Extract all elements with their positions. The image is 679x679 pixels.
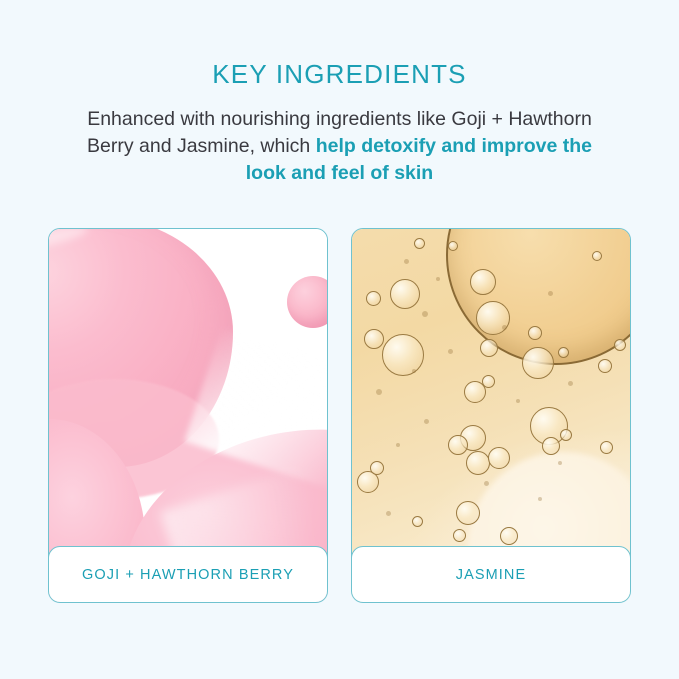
header: KEY INGREDIENTS Enhanced with nourishing… bbox=[0, 58, 679, 187]
oil-speck bbox=[396, 443, 400, 447]
oil-bubble bbox=[482, 375, 495, 388]
subtitle: Enhanced with nourishing ingredients lik… bbox=[0, 106, 679, 187]
oil-speck bbox=[386, 511, 391, 516]
oil-bubble bbox=[390, 279, 420, 309]
page-title: KEY INGREDIENTS bbox=[0, 58, 679, 90]
oil-bubble bbox=[480, 339, 498, 357]
oil-bubble bbox=[488, 447, 510, 469]
oil-bubble bbox=[614, 339, 626, 351]
oil-speck bbox=[448, 349, 453, 354]
oil-speck bbox=[412, 369, 416, 373]
oil-bubble bbox=[560, 429, 572, 441]
oil-speck bbox=[404, 259, 409, 264]
oil-bubble bbox=[542, 437, 560, 455]
oil-bubble bbox=[522, 347, 554, 379]
oil-bubble bbox=[382, 334, 424, 376]
oil-bubble bbox=[412, 516, 423, 527]
oil-bubble bbox=[456, 501, 480, 525]
ingredient-card-jasmine: JASMINE bbox=[351, 228, 631, 603]
oil-speck bbox=[502, 325, 507, 330]
card-caption-label: JASMINE bbox=[456, 567, 527, 583]
oil-bubble bbox=[370, 461, 384, 475]
oil-speck bbox=[548, 291, 553, 296]
oil-speck bbox=[422, 311, 428, 317]
ingredient-card-list: GOJI + HAWTHORN BERRY bbox=[48, 228, 631, 603]
oil-bubble bbox=[600, 441, 613, 454]
oil-bubble bbox=[592, 251, 602, 261]
oil-bubble bbox=[448, 435, 468, 455]
oil-bubble bbox=[364, 329, 384, 349]
oil-speck bbox=[516, 399, 520, 403]
oil-bubble bbox=[414, 238, 425, 249]
oil-speck bbox=[484, 481, 489, 486]
oil-speck bbox=[436, 277, 440, 281]
oil-speck bbox=[558, 461, 562, 465]
oil-bubble bbox=[598, 359, 612, 373]
oil-speck bbox=[376, 389, 382, 395]
oil-bubble bbox=[466, 451, 490, 475]
oil-bubble bbox=[448, 241, 458, 251]
oil-bubble bbox=[366, 291, 381, 306]
oil-bubble bbox=[528, 326, 542, 340]
card-caption-jasmine: JASMINE bbox=[351, 546, 631, 603]
card-caption-label: GOJI + HAWTHORN BERRY bbox=[82, 567, 294, 583]
oil-bubble bbox=[500, 527, 518, 545]
oil-speck bbox=[424, 419, 429, 424]
card-caption-goji: GOJI + HAWTHORN BERRY bbox=[48, 546, 328, 603]
oil-bubble bbox=[470, 269, 496, 295]
oil-speck bbox=[568, 381, 573, 386]
oil-bubble bbox=[558, 347, 569, 358]
key-ingredients-panel: KEY INGREDIENTS Enhanced with nourishing… bbox=[0, 0, 679, 679]
oil-bubble bbox=[453, 529, 466, 542]
oil-speck bbox=[538, 497, 542, 501]
ingredient-card-goji-hawthorn-berry: GOJI + HAWTHORN BERRY bbox=[48, 228, 328, 603]
